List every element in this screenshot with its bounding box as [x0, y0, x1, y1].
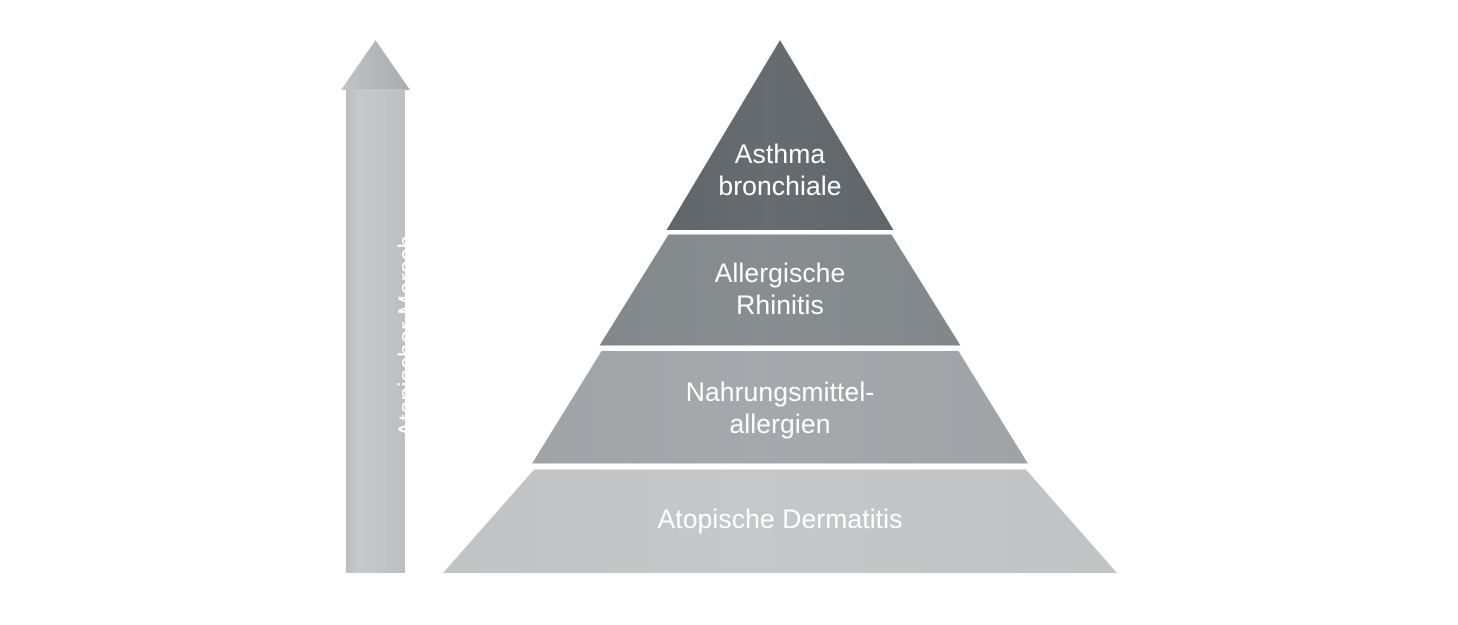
arrow-head-icon [341, 40, 410, 90]
pyramid [443, 40, 1117, 573]
pyramid-band-nahrungsmittelallergien [532, 351, 1028, 464]
pyramid-band-atopische-dermatitis [443, 470, 1117, 574]
pyramid-band-allergische-rhinitis [600, 235, 961, 346]
atopic-march-pyramid-figure [0, 0, 1458, 625]
pyramid-band-asthma-bronchiale [667, 40, 894, 230]
arrow-shaft [346, 89, 405, 573]
atopischer-marsch-arrow [341, 40, 410, 573]
figure-canvas: Asthma bronchiale Allergische Rhinitis N… [0, 0, 1458, 625]
